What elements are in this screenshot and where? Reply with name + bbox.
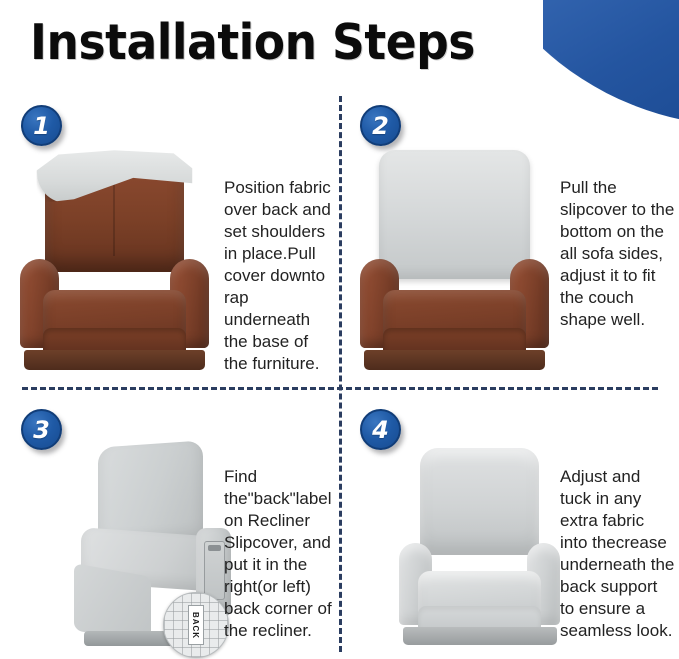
recliner-base bbox=[403, 627, 557, 645]
covered-backrest bbox=[420, 448, 539, 555]
step-number-4: 4 bbox=[372, 418, 389, 442]
side-pocket bbox=[204, 541, 225, 600]
recliner-base bbox=[24, 350, 204, 370]
step-number-1: 1 bbox=[33, 114, 50, 138]
step-image-4 bbox=[392, 440, 567, 645]
step-badge-1: 1 bbox=[21, 105, 62, 146]
back-label-tag: BACK bbox=[188, 605, 204, 645]
backrest-crease bbox=[113, 173, 115, 256]
installation-steps-infographic: Installation Steps 1 Position fabric ove… bbox=[0, 0, 679, 659]
step-badge-2: 2 bbox=[360, 105, 401, 146]
step-description-1: Position fabric over back and set should… bbox=[224, 177, 336, 375]
step-image-2 bbox=[352, 148, 557, 370]
page-title: Installation Steps bbox=[30, 14, 475, 71]
slipcover-over-backrest bbox=[379, 150, 531, 279]
recliner-base bbox=[364, 350, 544, 370]
back-label-text: BACK bbox=[192, 611, 201, 638]
step-image-1 bbox=[12, 148, 217, 370]
step-number-2: 2 bbox=[372, 114, 389, 138]
step-description-3: Find the"back"label on Recliner Slipcove… bbox=[224, 466, 342, 642]
step-description-2: Pull the slipcover to the bottom on the … bbox=[560, 177, 676, 331]
back-label-inset: BACK bbox=[163, 592, 229, 658]
step-description-4: Adjust and tuck in any extra fabric into… bbox=[560, 466, 676, 642]
step-number-3: 3 bbox=[33, 418, 50, 442]
step-badge-3: 3 bbox=[21, 409, 62, 450]
